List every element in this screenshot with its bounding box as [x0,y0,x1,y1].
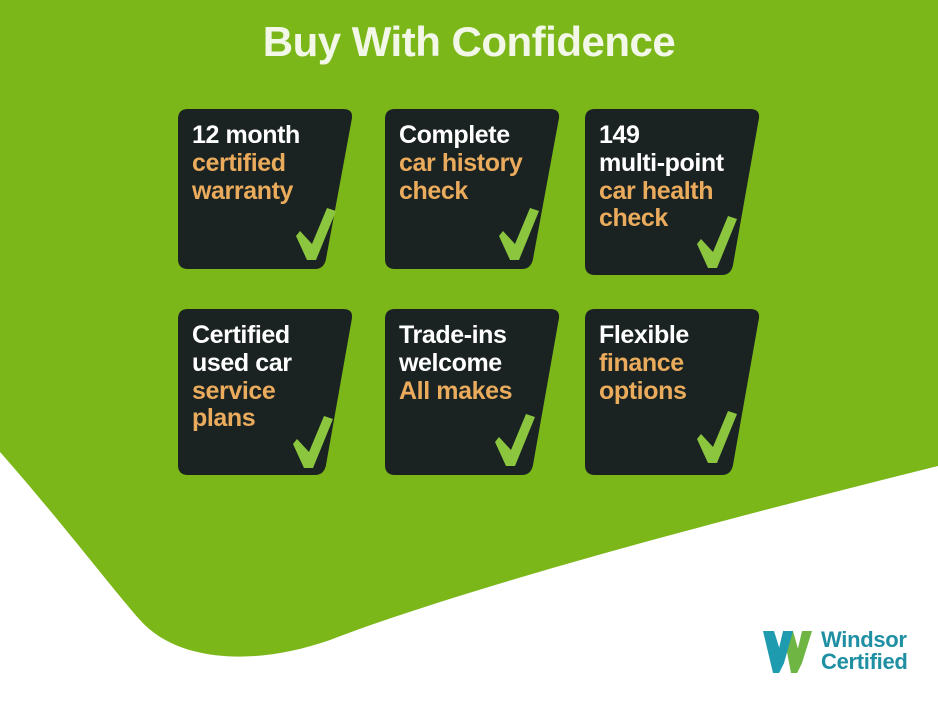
checkmark-icon [497,206,543,262]
card-line: 12 month [192,122,344,150]
windsor-certified-logo[interactable]: Windsor Certified [762,627,908,675]
card-line: options [599,378,751,406]
card-text-block: Complete car history check [399,122,551,205]
card-line: certified [192,150,344,178]
card-line: car health [599,178,751,206]
card-line: multi-point [599,150,751,178]
checkmark-icon [291,414,337,470]
benefit-card[interactable]: 149 multi-point car health check [585,109,760,275]
logo-line-2: Certified [821,651,908,673]
logo-line-1: Windsor [821,629,908,651]
card-text-block: 12 month certified warranty [192,122,344,205]
card-line: warranty [192,178,344,206]
promo-banner: Buy With Confidence 12 month certified w… [0,0,938,704]
card-line: used car [192,350,344,378]
benefit-card[interactable]: Trade-ins welcome All makes [385,309,560,475]
card-line: Complete [399,122,551,150]
checkmark-icon [695,409,741,465]
card-text-block: Flexible finance options [599,322,751,405]
benefit-card[interactable]: Flexible finance options [585,309,760,475]
page-title: Buy With Confidence [0,18,938,66]
card-line: Trade-ins [399,322,551,350]
checkmark-icon [294,206,340,262]
card-line: All makes [399,378,551,406]
card-line: check [399,178,551,206]
benefit-card[interactable]: Certified used car service plans [178,309,353,475]
checkmark-icon [493,412,539,468]
benefit-card-grid: 12 month certified warranty Complete car… [0,0,938,704]
card-line: Flexible [599,322,751,350]
card-line: welcome [399,350,551,378]
card-line: 149 [599,122,751,150]
benefit-card[interactable]: Complete car history check [385,109,560,269]
card-text-block: Trade-ins welcome All makes [399,322,551,405]
windsor-w-icon [762,627,814,675]
checkmark-icon [695,214,741,270]
logo-wordmark: Windsor Certified [821,629,908,674]
benefit-card[interactable]: 12 month certified warranty [178,109,353,269]
card-line: Certified [192,322,344,350]
card-line: service [192,378,344,406]
card-line: finance [599,350,751,378]
card-line: car history [399,150,551,178]
